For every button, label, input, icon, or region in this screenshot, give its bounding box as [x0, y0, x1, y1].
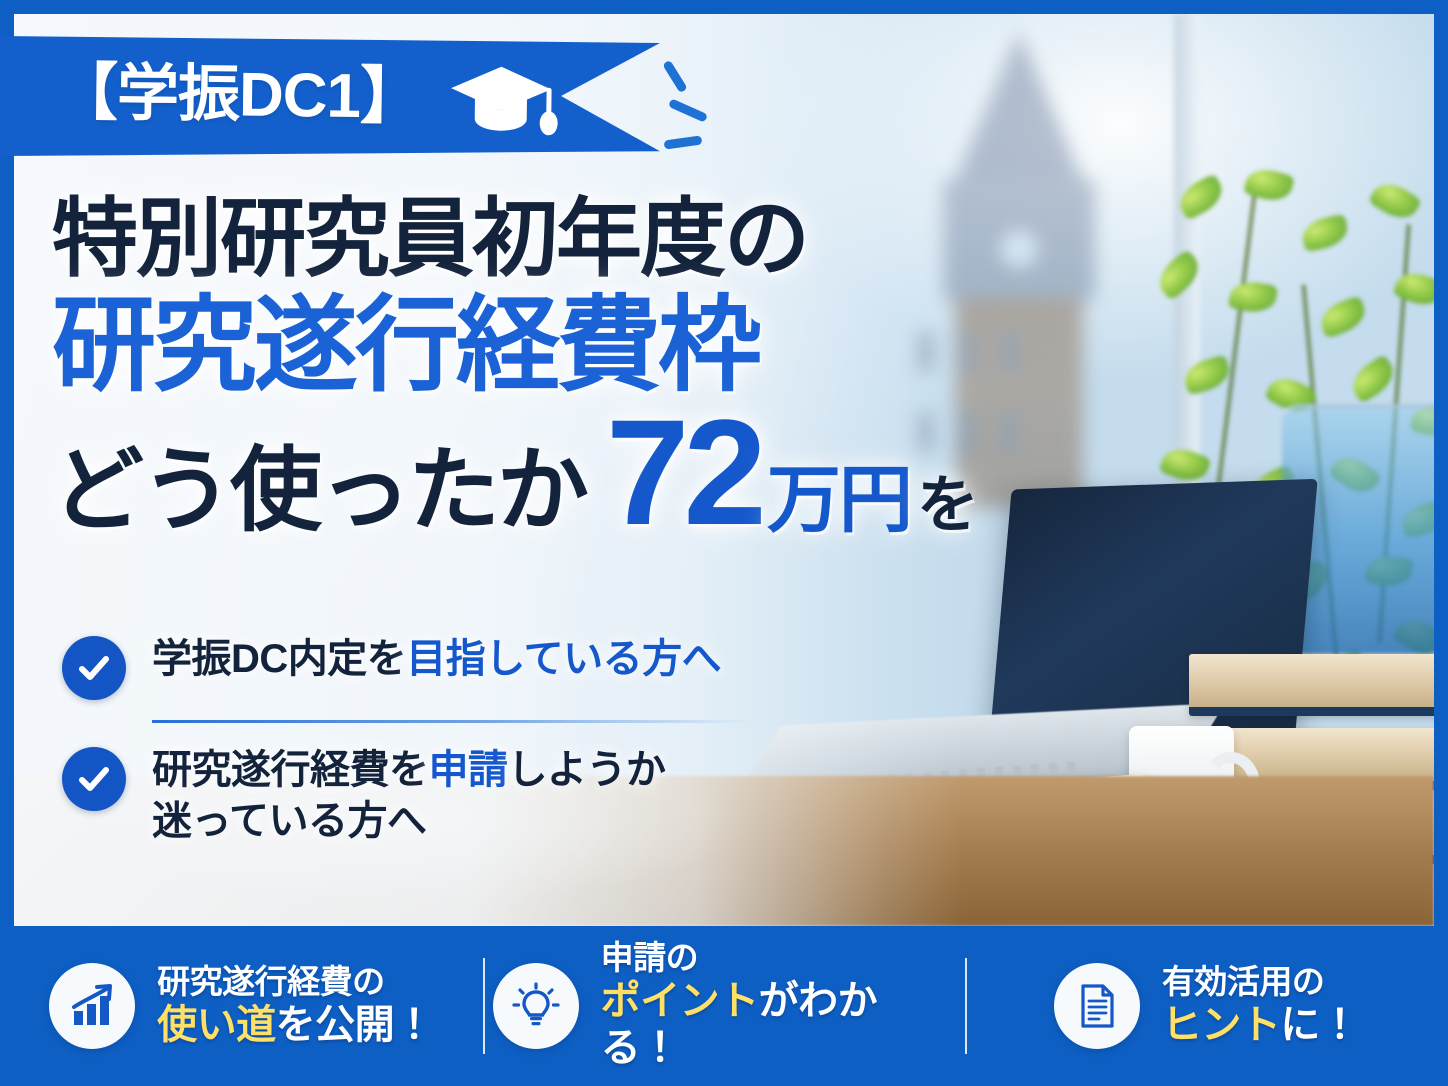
footer-item-1: 研究遂行経費の 使い道を公開！: [0, 963, 483, 1049]
headline-block: 特別研究員初年度の 研究遂行経費枠 どう使ったか 72 万円 を: [52, 196, 1232, 537]
footer-3-line-1: 有効活用の: [1162, 963, 1360, 1002]
bullet-2-plain: 研究遂行経費を: [152, 748, 429, 792]
bullet-1-plain: 学振DC内定を: [152, 637, 406, 681]
footer-text-2: 申請の ポイントがわかる！: [601, 939, 956, 1072]
headline-amount-unit: 万円: [767, 463, 911, 537]
book: [1189, 654, 1434, 716]
footer-1-line-1: 研究遂行経費の: [157, 963, 434, 1002]
check-circle-icon: [62, 636, 126, 700]
footer-2-line-2: ポイントがわかる！: [601, 978, 956, 1072]
bullet-2-line-2: 迷っている方へ: [152, 799, 427, 843]
bullet-text-1: 学振DC内定を目指している方へ: [152, 634, 721, 685]
headline-line-1: 特別研究員初年度の: [52, 196, 1232, 282]
footer-1-highlight: 使い道: [157, 1003, 276, 1047]
headline-line-3-text: どう使ったか: [52, 445, 586, 537]
sparkle-dash: [668, 98, 708, 122]
bullet-2-accent: 申請: [429, 748, 508, 792]
bullet-2-tail: しようか: [508, 748, 666, 792]
sparkle-dash: [664, 135, 703, 149]
bullet-item-2: 研究遂行経費を申請しようか 迷っている方へ: [62, 745, 782, 847]
sparkle-dash: [662, 60, 688, 94]
bullet-text-2: 研究遂行経費を申請しようか 迷っている方へ: [152, 745, 666, 847]
check-circle-icon: [62, 747, 126, 811]
footer-text-3: 有効活用の ヒントに！: [1162, 963, 1360, 1049]
promotional-banner: 【学振DC1】 特別研究員初年度の 研究遂行経費枠 どう使ったか 72 万円 を: [0, 0, 1448, 1086]
headline-line-3: どう使ったか 72 万円 を: [52, 408, 1232, 537]
lightbulb-icon: [493, 963, 579, 1049]
headline-line-2: 研究遂行経費枠: [52, 294, 1232, 398]
footer-item-2: 申請の ポイントがわかる！: [483, 939, 966, 1072]
bullet-1-accent: 目指している方へ: [406, 637, 721, 681]
sparkle-marks: [656, 60, 746, 160]
footer-item-3: 有効活用の ヒントに！: [965, 963, 1448, 1049]
headline-amount-tail: を: [917, 475, 979, 537]
bullet-list: 学振DC内定を目指している方へ 研究遂行経費を申請しようか 迷っている方へ: [62, 634, 782, 847]
footer-bar: 研究遂行経費の 使い道を公開！ 申請の ポイントがわかる！: [0, 926, 1448, 1086]
footer-text-1: 研究遂行経費の 使い道を公開！: [157, 963, 434, 1049]
footer-3-tail: に！: [1280, 1003, 1359, 1047]
footer-3-line-2: ヒントに！: [1162, 1002, 1360, 1049]
graduation-cap-icon: [447, 60, 560, 137]
header-ribbon: 【学振DC1】: [0, 36, 660, 156]
footer-3-highlight: ヒント: [1162, 1003, 1281, 1047]
bullet-item-1: 学振DC内定を目指している方へ: [62, 634, 782, 700]
headline-amount-number: 72: [606, 408, 761, 537]
footer-1-tail: を公開！: [276, 1003, 434, 1047]
footer-1-line-2: 使い道を公開！: [157, 1002, 434, 1049]
ribbon-title: 【学振DC1】: [56, 62, 422, 128]
bullet-divider: [152, 720, 752, 723]
footer-2-line-1: 申請の: [601, 939, 956, 978]
footer-2-highlight: ポイント: [601, 979, 759, 1023]
bar-chart-growth-icon: [49, 963, 135, 1049]
tower-spire: [955, 32, 1083, 182]
document-icon: [1054, 963, 1140, 1049]
